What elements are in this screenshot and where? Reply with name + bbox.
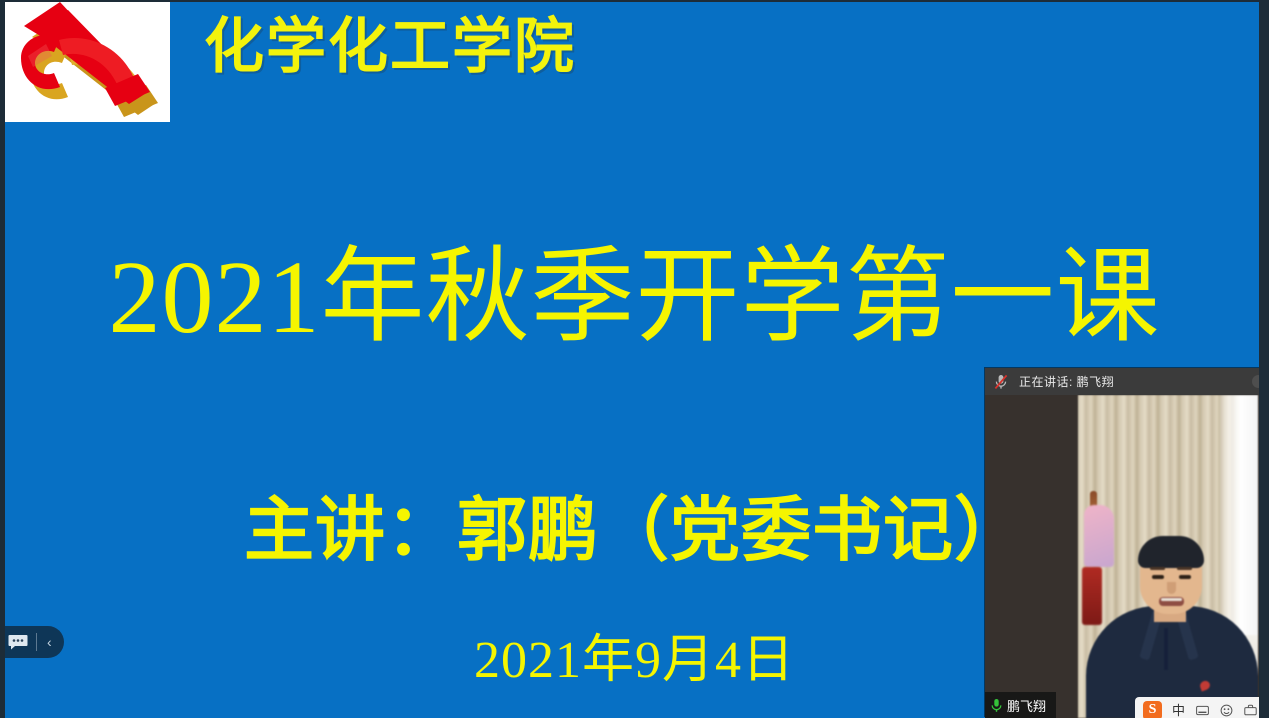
chat-bubble-icon[interactable]	[6, 630, 30, 654]
toolbar-divider	[36, 633, 37, 651]
participant-name-label: 鹏飞翔	[1007, 696, 1046, 715]
person-eye-left	[1152, 575, 1164, 579]
keyboard-glyph	[1196, 705, 1209, 716]
microphone-muted-icon[interactable]	[991, 372, 1011, 392]
sogou-logo-icon[interactable]: S	[1143, 701, 1162, 718]
speaking-status-label: 正在讲话: 鹏飞翔	[1019, 373, 1114, 390]
person-eye-right	[1179, 575, 1191, 579]
keyboard-icon[interactable]	[1195, 703, 1209, 717]
person-nose	[1167, 582, 1176, 594]
slide-main-title: 2021年秋季开学第一课	[0, 243, 1269, 352]
toolbox-icon[interactable]	[1243, 703, 1257, 717]
chat-bubble-glyph	[8, 634, 28, 651]
ime-mode-toggle[interactable]: 中	[1172, 704, 1185, 717]
person-eyebrow-left	[1150, 567, 1165, 570]
video-call-panel[interactable]: 正在讲话: 鹏飞翔	[985, 368, 1269, 718]
microphone-muted-glyph	[992, 373, 1010, 391]
participant-video-feed	[1078, 395, 1258, 718]
microphone-on-icon	[989, 697, 1003, 713]
decor-object-red	[1082, 567, 1102, 625]
person-eyebrow-right	[1177, 567, 1192, 570]
video-panel-titlebar[interactable]: 正在讲话: 鹏飞翔	[985, 368, 1269, 395]
cpc-party-emblem-icon	[0, 0, 170, 122]
school-name-title: 化学化工学院	[204, 17, 576, 77]
floating-chat-toolbar[interactable]: ‹	[0, 626, 64, 658]
panel-resize-handle-icon[interactable]	[1252, 375, 1265, 388]
person-teeth	[1161, 598, 1182, 601]
sogou-ime-toolbar[interactable]: S 中	[1135, 697, 1265, 718]
smiley-glyph	[1220, 704, 1233, 717]
decor-object-pink	[1084, 505, 1114, 567]
video-stage[interactable]: 鹏飞翔 S 中	[985, 395, 1269, 718]
person-hair	[1138, 536, 1204, 568]
person-shirt-placket	[1164, 628, 1168, 670]
smiley-icon[interactable]	[1219, 703, 1233, 717]
collapse-chevron-icon[interactable]: ‹	[43, 635, 56, 649]
presentation-screen: 化学化工学院 2021年秋季开学第一课 主讲：郭鹏（党委书记） 2021年9月4…	[0, 0, 1269, 718]
party-emblem-logo	[0, 0, 170, 122]
microphone-on-glyph	[990, 698, 1003, 713]
slide-header: 化学化工学院	[0, 0, 1269, 124]
participant-name-badge: 鹏飞翔	[985, 692, 1056, 718]
toolbox-glyph	[1244, 704, 1257, 716]
